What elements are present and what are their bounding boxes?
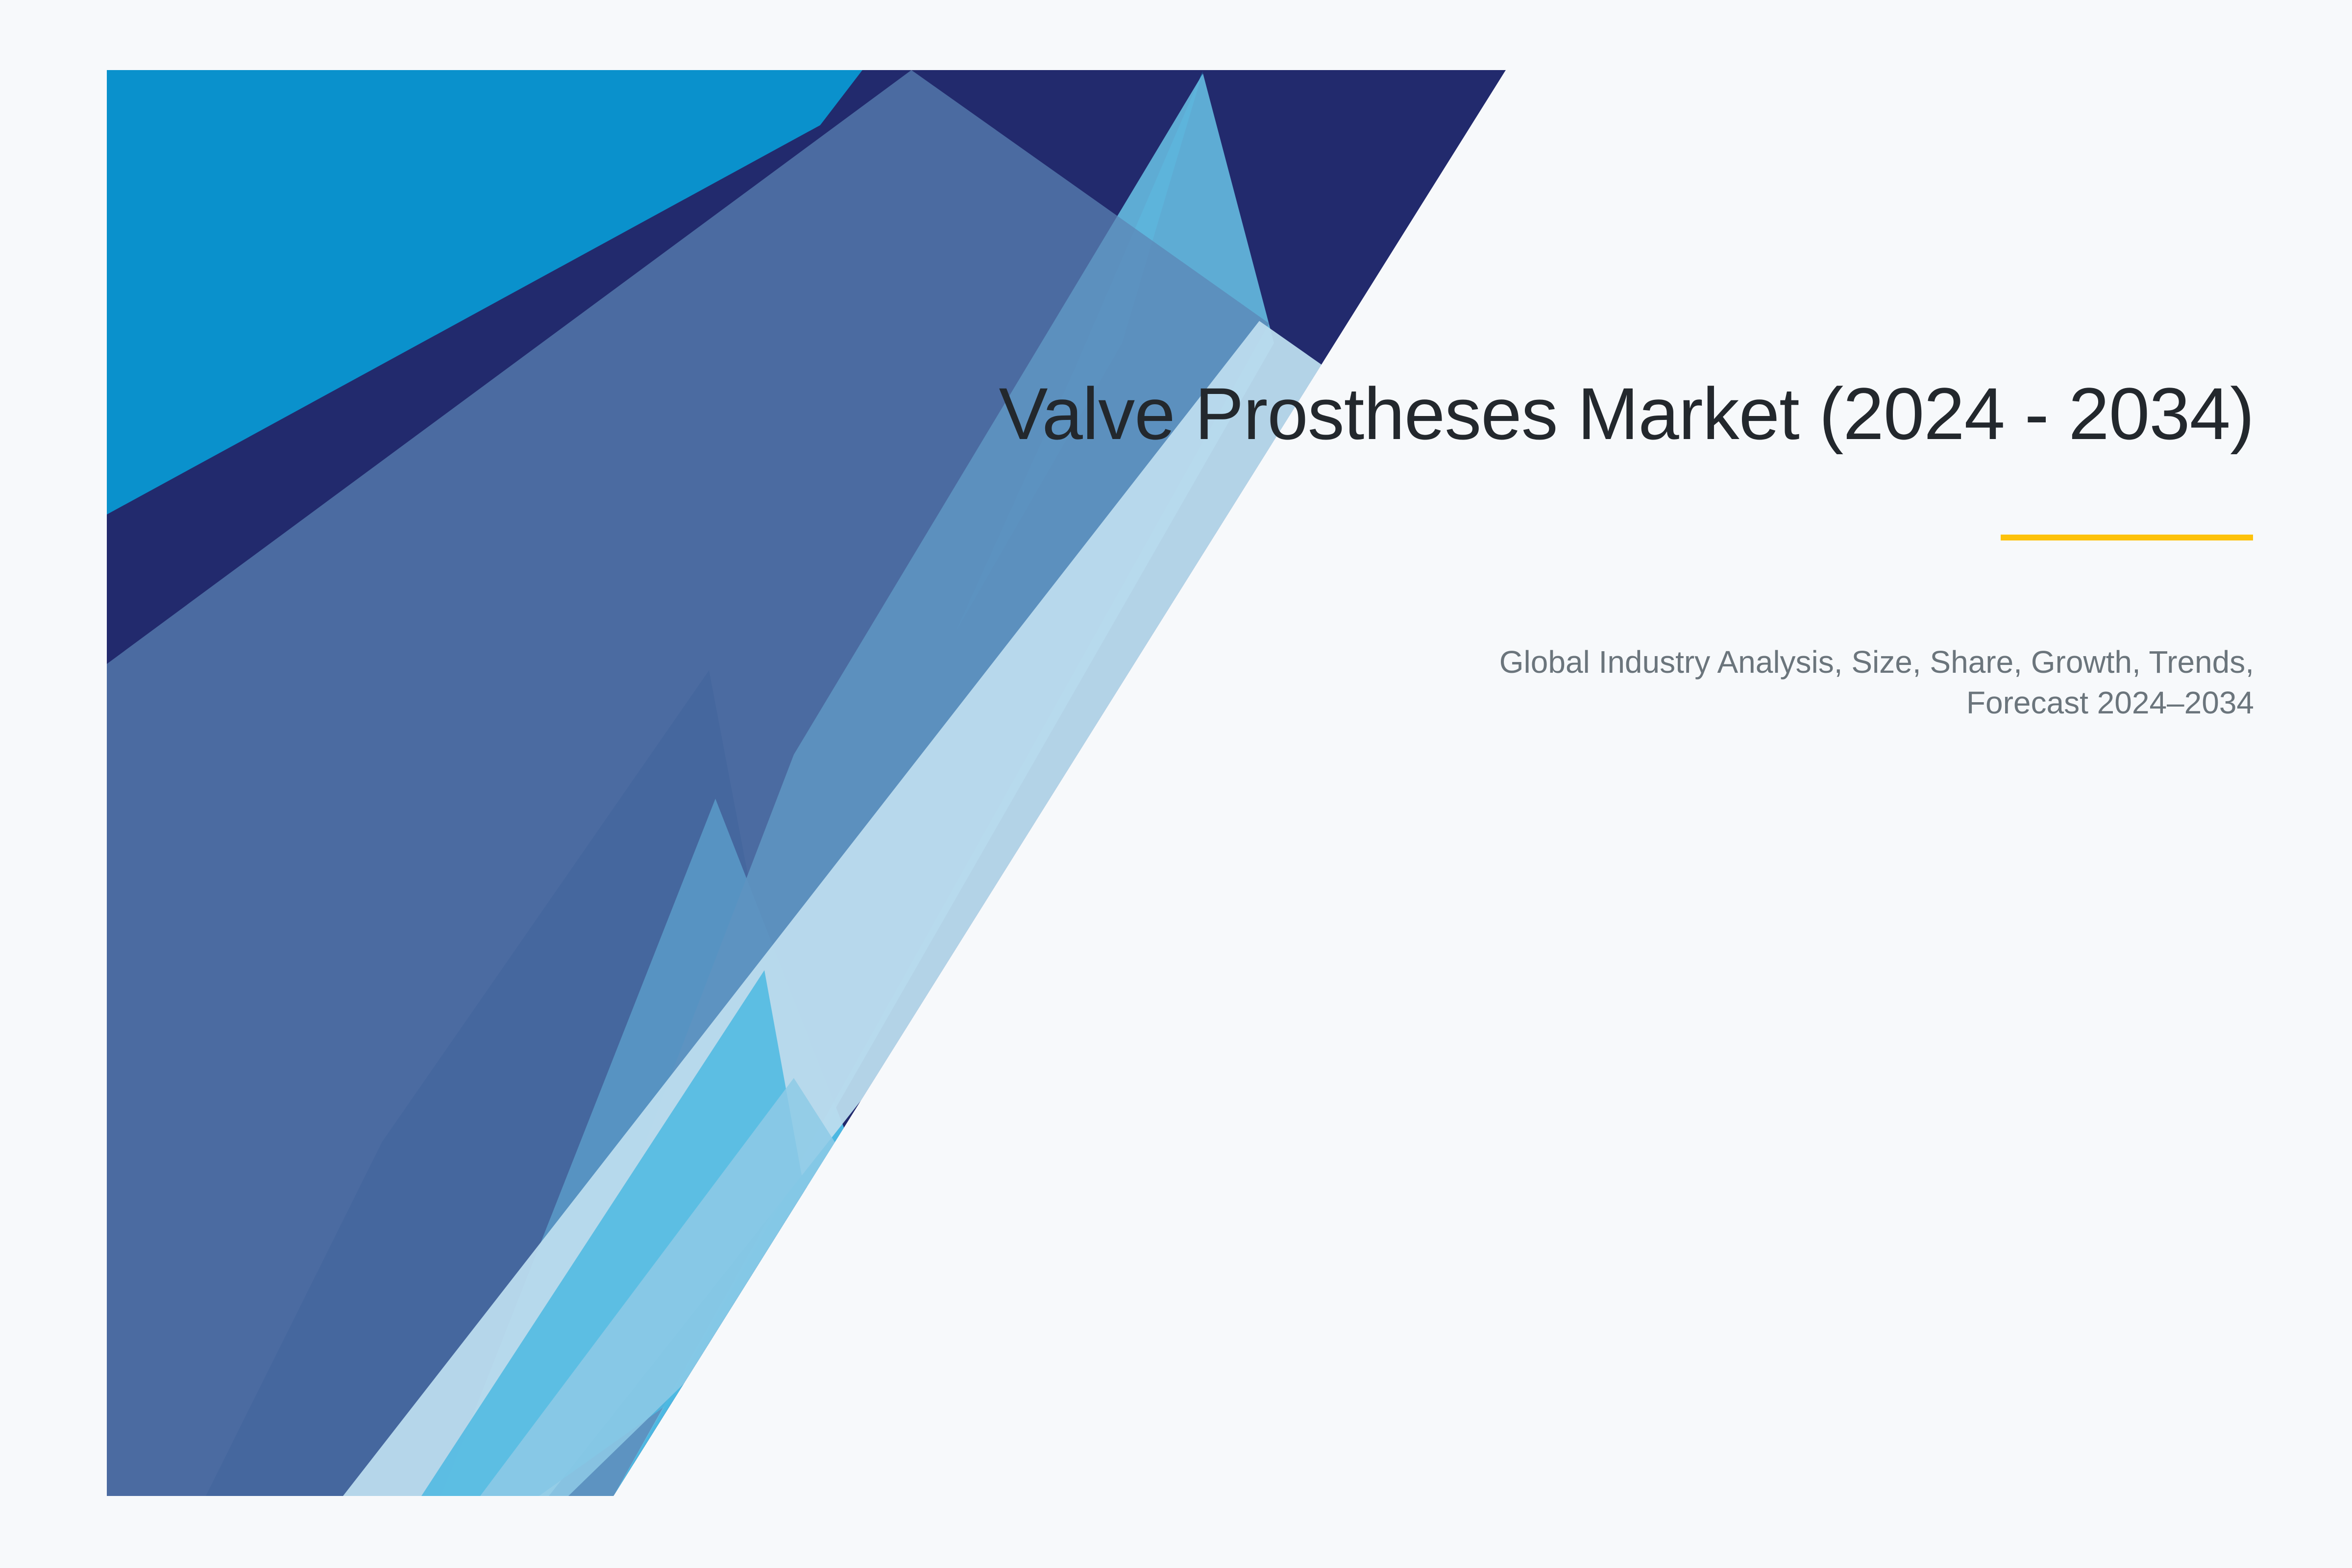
shape-navy-field [107, 70, 1506, 1496]
shape-deep-navy-spike [338, 670, 833, 1496]
abstract-geometric-artwork [0, 0, 2352, 1568]
shape-pale-blue-overlay [343, 321, 1399, 1496]
shape-sky-blue-band [510, 73, 1274, 1496]
shape-pale-highlight-bottom [480, 1078, 872, 1496]
page-title: Valve Prostheses Market (2024 - 2034) [931, 372, 2254, 455]
shape-deep-navy-lower [206, 670, 833, 1496]
shape-steel-blue-overlay [107, 70, 1269, 1496]
report-cover-slide: Valve Prostheses Market (2024 - 2034) Gl… [0, 0, 2352, 1568]
page-subtitle: Global Industry Analysis, Size, Share, G… [1372, 642, 2254, 723]
shape-light-cyan-band [441, 799, 882, 1496]
title-block: Valve Prostheses Market (2024 - 2034) [931, 372, 2254, 455]
shape-cyan-sliver-bottom [421, 970, 823, 1496]
title-underline-accent [2001, 535, 2253, 540]
artwork-svg [0, 0, 2352, 1568]
shape-cyan-spike [955, 71, 1203, 632]
